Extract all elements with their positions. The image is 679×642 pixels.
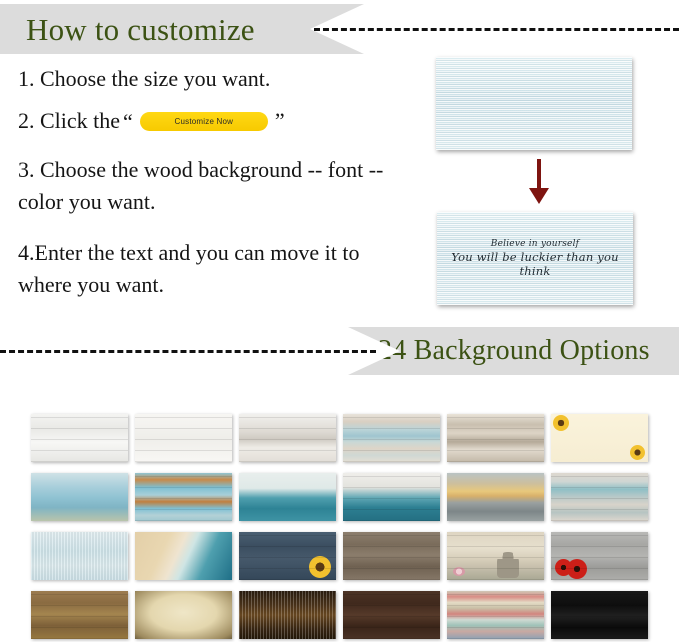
background-thumbnail-teal-abstract-splash[interactable]: [239, 473, 336, 521]
step-3-label: 3. Choose the wood background -- font --…: [18, 157, 383, 214]
background-thumbnail-aged-cream-parchment[interactable]: [135, 591, 232, 639]
background-thumbnail-dark-brown-wood[interactable]: [239, 591, 336, 639]
dashed-divider-top: [314, 28, 679, 31]
background-thumbnail-light-blue-wood[interactable]: [31, 532, 128, 580]
buddha-silhouette-icon: [497, 552, 519, 578]
background-thumbnail-beach-shoreline[interactable]: [135, 532, 232, 580]
background-thumbnail-teal-white-gradient[interactable]: [343, 473, 440, 521]
background-thumbnail-teal-gray-weathered[interactable]: [551, 473, 648, 521]
poppy-icon: [555, 559, 572, 576]
step-4: 4.Enter the text and you can move it to …: [18, 237, 398, 301]
sunflower-icon: [630, 445, 645, 460]
background-thumbnail-rustic-brown-plank[interactable]: [31, 591, 128, 639]
step-4-label: 4.Enter the text and you can move it to …: [18, 240, 360, 297]
background-thumbnail-weathered-tan-wood[interactable]: [447, 414, 544, 462]
background-options-banner: 24 Background Options: [348, 327, 679, 375]
background-thumbnail-white-plank-wood[interactable]: [31, 414, 128, 462]
instruction-steps: 1. Choose the size you want. 2. Click th…: [18, 68, 398, 320]
sunflower-icon: [309, 556, 331, 578]
sunflower-icon: [553, 415, 569, 431]
background-thumbnail-gray-wood-red-poppies[interactable]: [551, 532, 648, 580]
preview-text-line-1: Believe in yourself: [491, 239, 579, 249]
step-1: 1. Choose the size you want.: [18, 68, 398, 90]
background-thumbnail-gray-rustic-plank[interactable]: [239, 414, 336, 462]
background-thumbnail-teal-orange-distressed[interactable]: [135, 473, 232, 521]
step-2-label: 2. Click the: [18, 110, 120, 132]
background-thumbnail-pastel-stripe-plank[interactable]: [447, 591, 544, 639]
background-thumbnail-buddha-zen-scene[interactable]: [447, 532, 544, 580]
customize-now-button[interactable]: Customize Now: [140, 112, 268, 131]
background-thumbnail-coral-reef-underwater[interactable]: [31, 473, 128, 521]
step-1-label: 1. Choose the size you want.: [18, 66, 270, 91]
background-thumbnail-grid[interactable]: [31, 414, 651, 639]
background-thumbnail-cream-sunflower[interactable]: [551, 414, 648, 462]
step-3: 3. Choose the wood background -- font --…: [18, 154, 398, 218]
preview-text-line-2: You will be luckier than you think: [437, 250, 633, 278]
customized-wood-panel-preview: Believe in yourself You will be luckier …: [437, 212, 633, 305]
blank-wood-panel-preview: [436, 57, 632, 150]
background-thumbnail-brown-barnwood[interactable]: [343, 532, 440, 580]
background-thumbnail-black-wood[interactable]: [551, 591, 648, 639]
quote-open-icon: “: [123, 111, 133, 133]
down-arrow-icon: [528, 159, 550, 205]
background-thumbnail-multicolor-teal-plank[interactable]: [343, 414, 440, 462]
poppy-icon: [567, 559, 587, 579]
background-thumbnail-golden-sunset-seascape[interactable]: [447, 473, 544, 521]
background-thumbnail-walnut-dark-plank[interactable]: [343, 591, 440, 639]
background-thumbnail-whitewash-wood[interactable]: [135, 414, 232, 462]
lotus-icon: [453, 567, 465, 576]
quote-close-icon: ”: [275, 110, 285, 132]
how-to-customize-banner: How to customize: [0, 4, 364, 54]
background-options-title: 24 Background Options: [378, 337, 650, 365]
background-thumbnail-navy-wood-sunflower[interactable]: [239, 532, 336, 580]
step-2: 2. Click the “ Customize Now ”: [18, 109, 398, 133]
page-title: How to customize: [26, 14, 255, 45]
dashed-divider-bottom: [0, 350, 376, 353]
